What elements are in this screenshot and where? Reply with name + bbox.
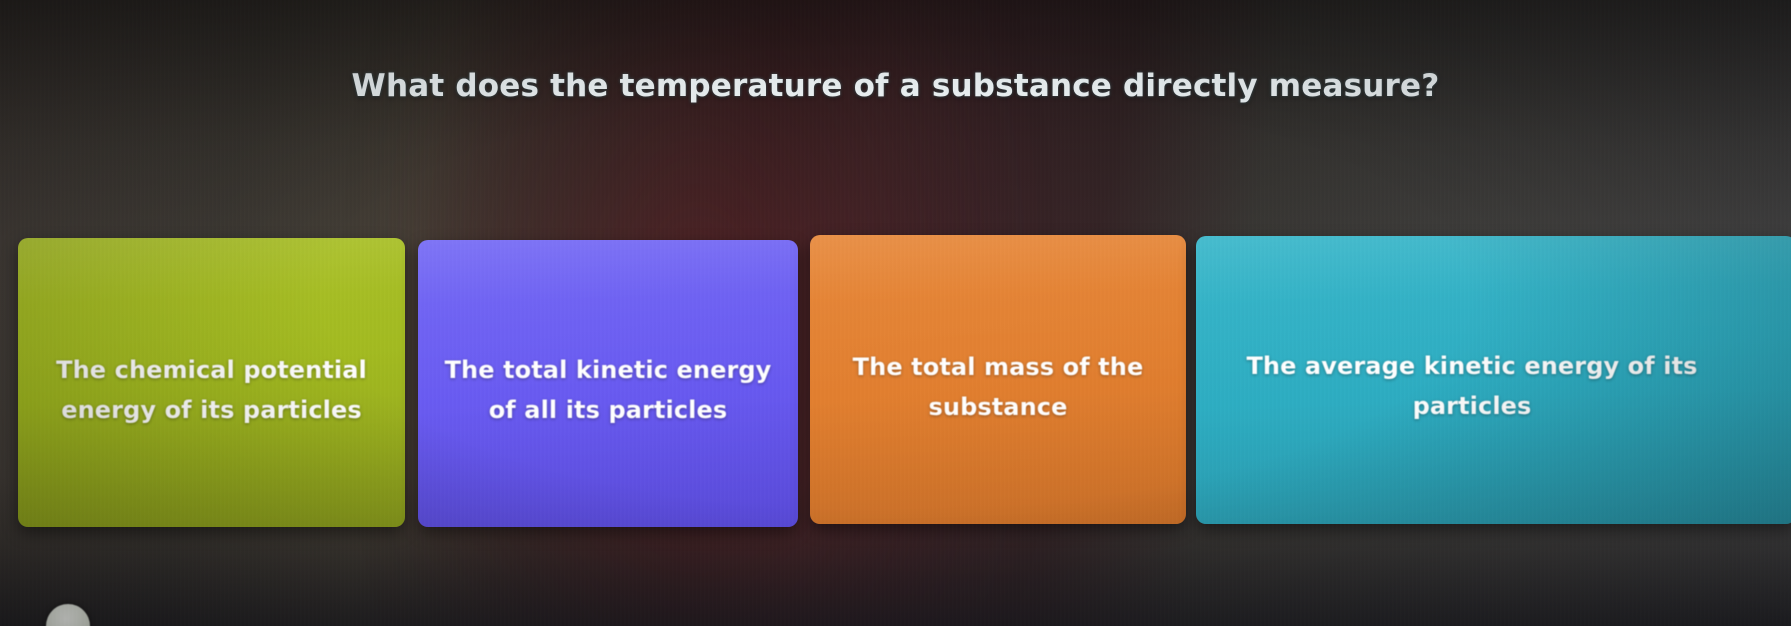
answer-label-a: The chemical potential energy of its par… [41,350,382,430]
answer-options-row: The chemical potential energy of its par… [0,0,1791,626]
answer-card-d[interactable]: The average kinetic energy of its partic… [1196,236,1791,524]
answer-label-d: The average kinetic energy of its partic… [1208,346,1736,426]
answer-label-b: The total kinetic energy of all its part… [441,350,775,430]
answer-card-c[interactable]: The total mass of the substance [810,235,1186,524]
quiz-screen: What does the temperature of a substance… [0,0,1791,626]
answer-card-a[interactable]: The chemical potential energy of its par… [18,238,405,527]
answer-card-b[interactable]: The total kinetic energy of all its part… [418,240,798,527]
answer-label-c: The total mass of the substance [833,347,1164,427]
